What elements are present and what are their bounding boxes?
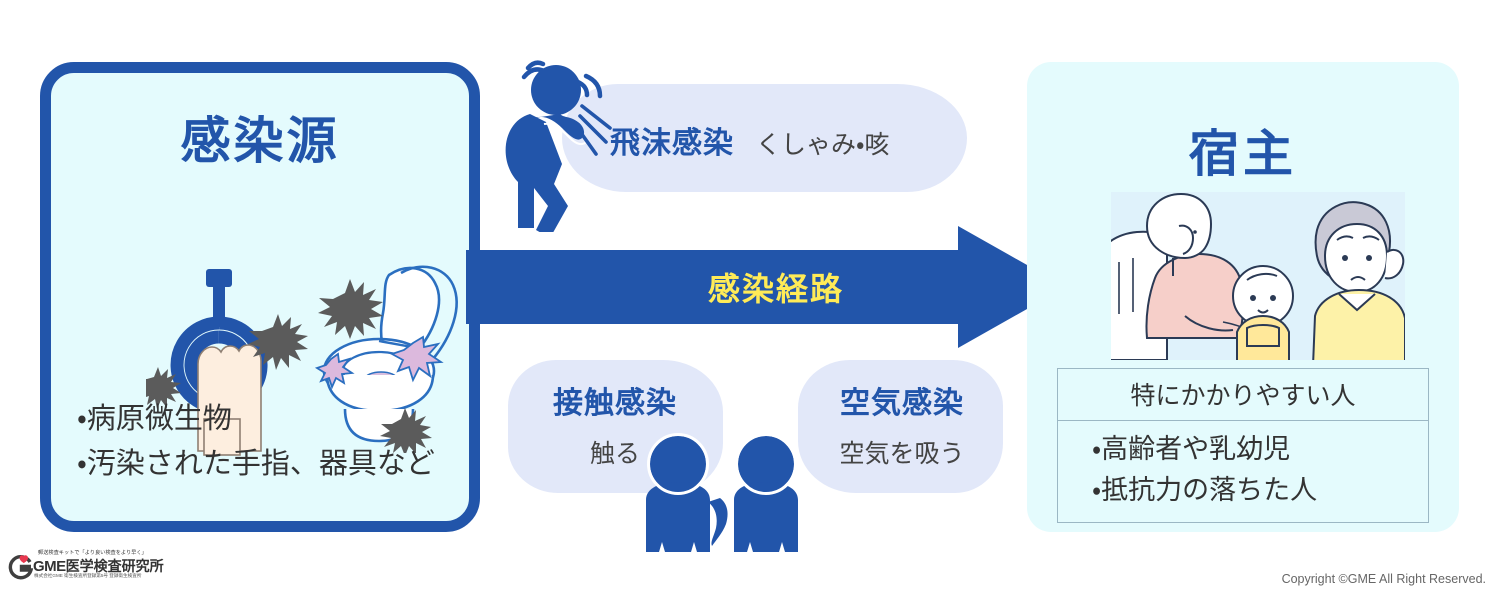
logo-fine-print: 株式会社GME 衛生検査所登録第5号 登録衛生検査所 — [34, 573, 141, 579]
droplet-route-label: 飛沫感染 くしゃみ・咳 — [610, 118, 890, 162]
susceptible-item-1: ・抵抗力の落ちた人 — [1092, 470, 1428, 511]
droplet-route-sub: くしゃみ・咳 — [756, 125, 890, 161]
source-title: 感染源 — [51, 101, 469, 173]
droplet-route-title: 飛沫感染 — [610, 118, 734, 162]
sneezing-person-icon — [500, 52, 626, 237]
gme-logo-icon — [8, 555, 34, 581]
susceptible-item-0: ・高齢者や乳幼児 — [1092, 429, 1428, 470]
source-panel: 感染源 — [40, 62, 480, 532]
susceptible-card-heading: 特にかかりやすい人 — [1058, 369, 1428, 421]
source-bullet-list: ・病原微生物 ・汚染された手指、器具など — [77, 397, 435, 487]
host-panel: 宿主 — [1027, 62, 1459, 532]
airborne-route-title: 空気感染 — [812, 378, 992, 422]
susceptible-card-body: ・高齢者や乳幼児 ・抵抗力の落ちた人 — [1058, 421, 1428, 522]
infographic-canvas: 感染源 — [0, 0, 1500, 592]
airborne-route-sub: 空気を吸う — [812, 434, 992, 470]
logo-name-jp: 医学検査研究所 — [66, 558, 164, 574]
source-bullet-0: ・病原微生物 — [77, 397, 435, 442]
host-title: 宿主 — [1027, 114, 1459, 186]
airborne-route-label: 空気感染 空気を吸う — [812, 378, 992, 470]
copyright-text: Copyright ©GME All Right Reserved. — [1282, 572, 1486, 586]
gme-logo[interactable]: 郵送検査キットで「より良い検査をより早く」 GME医学検査研究所 株式会社GME… — [8, 549, 158, 587]
logo-tagline: 郵送検査キットで「より良い検査をより早く」 — [38, 549, 147, 556]
two-people-touching-icon — [620, 430, 830, 563]
transmission-arrow: 感染経路 — [466, 226, 1066, 348]
contact-route-title: 接触感染 — [520, 378, 710, 422]
arrow-label: 感染経路 — [656, 264, 896, 310]
source-bullet-1: ・汚染された手指、器具など — [77, 442, 435, 487]
susceptible-people-card: 特にかかりやすい人 ・高齢者や乳幼児 ・抵抗力の落ちた人 — [1057, 368, 1429, 523]
sick-woman-baby-elderly-illustration — [1111, 192, 1405, 360]
